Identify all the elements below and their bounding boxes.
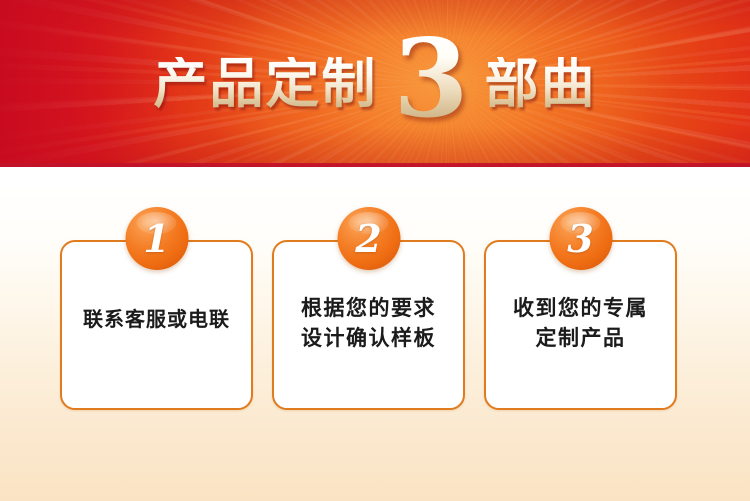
step-text-line: 收到您的专属 (486, 294, 675, 324)
step-text-2: 根据您的要求 设计确认样板 (274, 294, 463, 354)
step-text-3: 收到您的专属 定制产品 (486, 294, 675, 354)
step-badge-number-1: 1 (143, 220, 169, 258)
promo-page: 产品定制 3 部曲 1 联系客服或电联 2 根据您的要求 设计确认样板 (0, 0, 750, 501)
step-text-line: 设计确认样板 (274, 324, 463, 354)
step-card-2: 2 根据您的要求 设计确认样板 (272, 240, 465, 410)
header-banner: 产品定制 3 部曲 (0, 0, 750, 167)
step-badge-2: 2 (337, 207, 400, 270)
step-card-3: 3 收到您的专属 定制产品 (484, 240, 677, 410)
page-title: 产品定制 3 部曲 (0, 0, 750, 167)
step-text-line: 定制产品 (486, 324, 675, 354)
step-card-1: 1 联系客服或电联 (60, 240, 253, 410)
step-badge-number-2: 2 (355, 220, 381, 258)
step-text-1: 联系客服或电联 (62, 305, 251, 333)
step-text-line: 联系客服或电联 (62, 305, 251, 333)
step-text-line: 根据您的要求 (274, 294, 463, 324)
steps-container: 1 联系客服或电联 2 根据您的要求 设计确认样板 3 收到您的专属 定制产品 (60, 205, 690, 410)
step-badge-1: 1 (125, 207, 188, 270)
title-prefix-text: 产品定制 (153, 57, 377, 111)
title-number-3: 3 (393, 33, 468, 126)
step-badge-3: 3 (549, 207, 612, 270)
step-badge-number-3: 3 (567, 220, 593, 258)
title-suffix-text: 部曲 (485, 57, 597, 111)
